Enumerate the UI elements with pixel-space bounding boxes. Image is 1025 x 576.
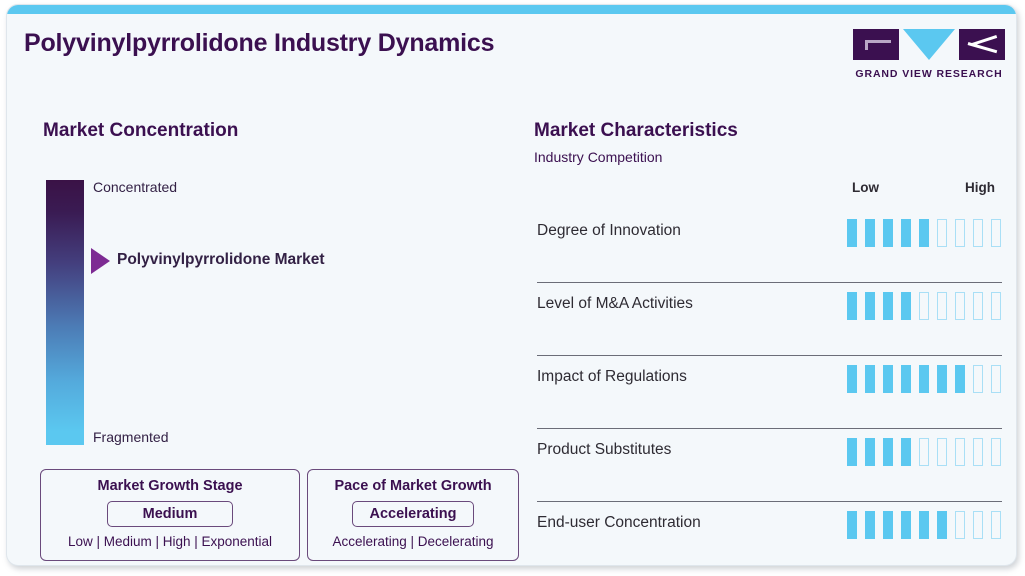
rating-tick-empty <box>955 511 965 539</box>
logo-g-block-icon <box>853 29 899 60</box>
rating-tick-filled <box>883 511 893 539</box>
characteristic-label: Product Substitutes <box>537 441 671 459</box>
rating-tick-empty <box>973 365 983 393</box>
characteristic-row: Level of M&A Activities <box>537 283 1002 356</box>
rating-tick-filled <box>919 511 929 539</box>
rating-tick-empty <box>991 365 1001 393</box>
rating-tick-filled <box>883 365 893 393</box>
rating-tick-filled <box>865 292 875 320</box>
rating-tick-filled <box>847 511 857 539</box>
market-position-arrow-icon <box>91 248 110 274</box>
rating-tick-empty <box>955 438 965 466</box>
rating-scale-high-label: High <box>965 180 995 195</box>
rating-tick-filled <box>865 511 875 539</box>
market-characteristics-title: Market Characteristics <box>534 120 738 142</box>
pace-of-growth-value: Accelerating <box>352 501 474 527</box>
rating-tick-filled <box>901 511 911 539</box>
logo-r-block-icon <box>959 29 1005 60</box>
characteristic-label: End-user Concentration <box>537 514 701 532</box>
pace-of-growth-heading: Pace of Market Growth <box>308 478 518 494</box>
rating-tick-filled <box>901 292 911 320</box>
rating-tick-empty <box>937 219 947 247</box>
market-concentration-title: Market Concentration <box>43 120 238 142</box>
logo-wordmark: GRAND VIEW RESEARCH <box>853 68 1005 80</box>
rating-tick-filled <box>919 219 929 247</box>
characteristic-label: Impact of Regulations <box>537 368 687 386</box>
rating-tick-empty <box>919 292 929 320</box>
rating-tick-empty <box>973 511 983 539</box>
brand-logo: GRAND VIEW RESEARCH <box>853 29 1005 80</box>
rating-tick-filled <box>883 438 893 466</box>
characteristic-row: End-user Concentration <box>537 502 1002 566</box>
rating-tick-filled <box>847 219 857 247</box>
rating-scale-low-label: Low <box>852 180 879 195</box>
rating-tick-filled <box>955 365 965 393</box>
characteristic-row: Product Substitutes <box>537 429 1002 502</box>
market-growth-stage-value: Medium <box>107 501 233 527</box>
rating-tick-filled <box>901 365 911 393</box>
rating-bar-group <box>847 219 1001 247</box>
rating-tick-filled <box>901 438 911 466</box>
rating-tick-filled <box>847 292 857 320</box>
rating-tick-empty <box>955 219 965 247</box>
market-growth-stage-box: Market Growth Stage Medium Low | Medium … <box>40 469 300 561</box>
rating-tick-filled <box>883 219 893 247</box>
rating-tick-filled <box>937 511 947 539</box>
rating-bar-group <box>847 292 1001 320</box>
characteristic-label: Degree of Innovation <box>537 222 681 240</box>
pace-of-growth-options: Accelerating | Decelerating <box>308 534 518 549</box>
rating-tick-filled <box>865 438 875 466</box>
rating-tick-filled <box>865 365 875 393</box>
rating-bar-group <box>847 365 1001 393</box>
market-growth-stage-heading: Market Growth Stage <box>41 478 299 494</box>
infographic-canvas: Polyvinylpyrrolidone Industry Dynamics G… <box>0 0 1025 576</box>
rating-tick-empty <box>991 292 1001 320</box>
rating-tick-filled <box>883 292 893 320</box>
rating-tick-empty <box>973 292 983 320</box>
characteristic-label: Level of M&A Activities <box>537 295 693 313</box>
market-growth-stage-options: Low | Medium | High | Exponential <box>41 534 299 549</box>
rating-bar-group <box>847 511 1001 539</box>
rating-tick-empty <box>991 511 1001 539</box>
rating-tick-empty <box>955 292 965 320</box>
logo-marks <box>853 29 1005 63</box>
rating-tick-filled <box>847 365 857 393</box>
top-accent-stripe <box>7 5 1016 14</box>
rating-tick-empty <box>937 292 947 320</box>
rating-tick-filled <box>919 365 929 393</box>
page-title: Polyvinylpyrrolidone Industry Dynamics <box>24 29 494 58</box>
logo-triangle-icon <box>903 29 955 60</box>
rating-tick-filled <box>847 438 857 466</box>
market-position-label: Polyvinylpyrrolidone Market <box>117 251 325 269</box>
rating-tick-empty <box>973 219 983 247</box>
characteristics-rows: Degree of InnovationLevel of M&A Activit… <box>537 210 1002 566</box>
rating-tick-empty <box>919 438 929 466</box>
scale-label-fragmented: Fragmented <box>93 429 168 445</box>
rating-tick-empty <box>973 438 983 466</box>
infographic-card: Polyvinylpyrrolidone Industry Dynamics G… <box>6 4 1017 566</box>
characteristic-row: Degree of Innovation <box>537 210 1002 283</box>
rating-bar-group <box>847 438 1001 466</box>
rating-tick-filled <box>901 219 911 247</box>
scale-label-concentrated: Concentrated <box>93 179 177 195</box>
concentration-gradient-scale <box>46 180 84 445</box>
rating-tick-empty <box>991 219 1001 247</box>
rating-tick-filled <box>865 219 875 247</box>
characteristic-row: Impact of Regulations <box>537 356 1002 429</box>
rating-tick-empty <box>937 438 947 466</box>
market-characteristics-subtitle: Industry Competition <box>534 149 662 165</box>
rating-tick-empty <box>991 438 1001 466</box>
rating-tick-filled <box>937 365 947 393</box>
pace-of-growth-box: Pace of Market Growth Accelerating Accel… <box>307 469 519 561</box>
